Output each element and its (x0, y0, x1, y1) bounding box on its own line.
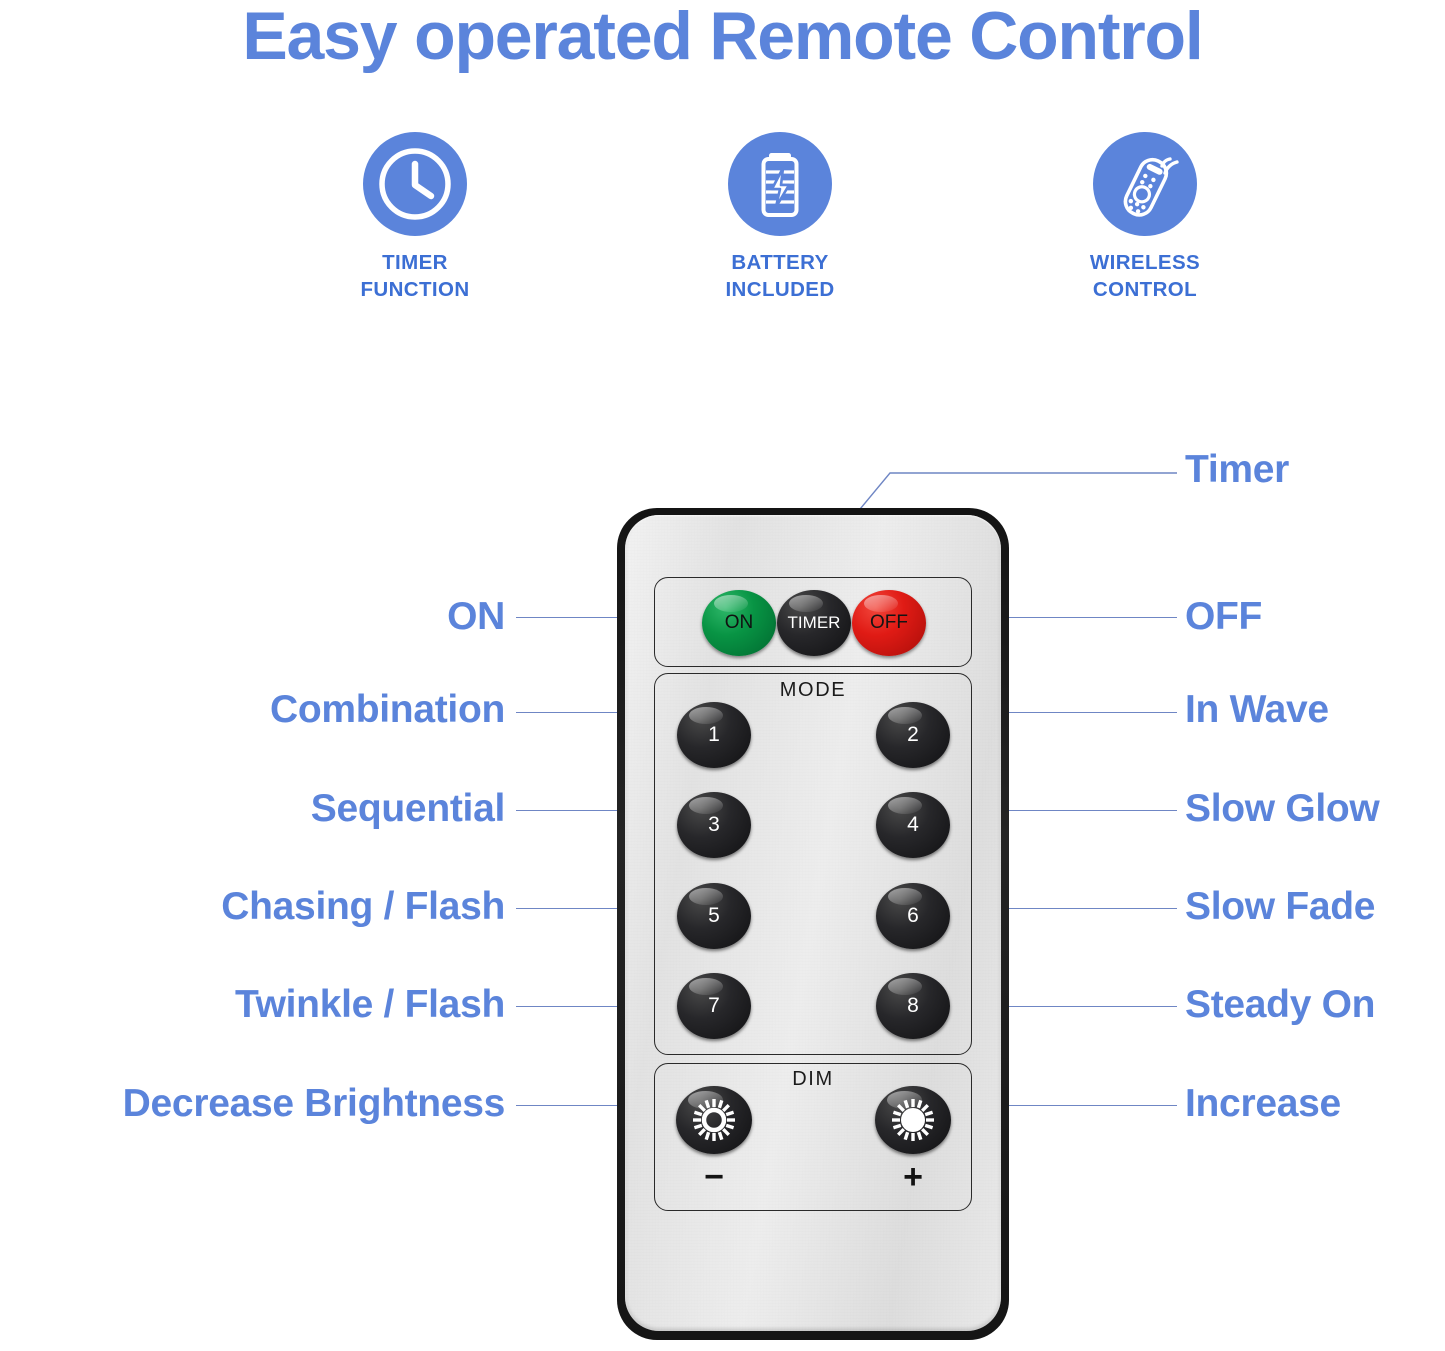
mode-button-4[interactable]: 4 (876, 792, 950, 858)
mode-button-label: 5 (708, 904, 720, 928)
sun-filled-icon (890, 1097, 936, 1143)
callout-slow-glow: Slow Glow (1185, 789, 1379, 828)
mode-button-label: 4 (907, 813, 919, 837)
mode-button-label: 3 (708, 813, 720, 837)
remote-faceplate: ON TIMER OFF MODE 1 2 3 (625, 515, 1001, 1331)
dim-panel: DIM (654, 1063, 972, 1211)
mode-button-label: 1 (708, 723, 720, 747)
timer-button-label: TIMER (788, 613, 841, 633)
power-panel: ON TIMER OFF (654, 577, 972, 667)
mode-button-8[interactable]: 8 (876, 973, 950, 1039)
callout-off: OFF (1185, 597, 1262, 636)
on-button-label: ON (725, 612, 754, 634)
on-button[interactable]: ON (702, 590, 776, 656)
callout-sequential: Sequential (311, 789, 505, 828)
mode-button-1[interactable]: 1 (677, 702, 751, 768)
mode-button-label: 6 (907, 904, 919, 928)
mode-button-5[interactable]: 5 (677, 883, 751, 949)
callout-on: ON (447, 597, 505, 636)
sun-outline-icon (691, 1097, 737, 1143)
remote-control-device: ON TIMER OFF MODE 1 2 3 (617, 508, 1009, 1340)
mode-panel-title: MODE (655, 679, 971, 702)
mode-button-7[interactable]: 7 (677, 973, 751, 1039)
mode-button-6[interactable]: 6 (876, 883, 950, 949)
callout-timer: Timer (1185, 450, 1289, 489)
callout-decrease-brightness: Decrease Brightness (123, 1084, 505, 1123)
off-button-label: OFF (870, 612, 908, 634)
callout-chasing-flash: Chasing / Flash (221, 887, 505, 926)
dim-down-button[interactable] (676, 1086, 752, 1154)
callout-slow-fade: Slow Fade (1185, 887, 1375, 926)
mode-button-2[interactable]: 2 (876, 702, 950, 768)
callout-twinkle-flash: Twinkle / Flash (235, 985, 505, 1024)
dim-plus-symbol: + (893, 1160, 933, 1194)
mode-button-3[interactable]: 3 (677, 792, 751, 858)
callout-increase: Increase (1185, 1084, 1341, 1123)
timer-button[interactable]: TIMER (777, 590, 851, 656)
mode-button-label: 7 (708, 994, 720, 1018)
callout-steady-on: Steady On (1185, 985, 1375, 1024)
dim-minus-symbol: − (694, 1160, 734, 1194)
callout-combination: Combination (270, 690, 505, 729)
off-button[interactable]: OFF (852, 590, 926, 656)
dim-up-button[interactable] (875, 1086, 951, 1154)
mode-button-label: 2 (907, 723, 919, 747)
callout-in-wave: In Wave (1185, 690, 1329, 729)
mode-button-label: 8 (907, 994, 919, 1018)
mode-panel: MODE 1 2 3 4 5 6 (654, 673, 972, 1055)
product-infographic: Easy operated Remote Control TIMER FUNCT… (0, 0, 1445, 1351)
